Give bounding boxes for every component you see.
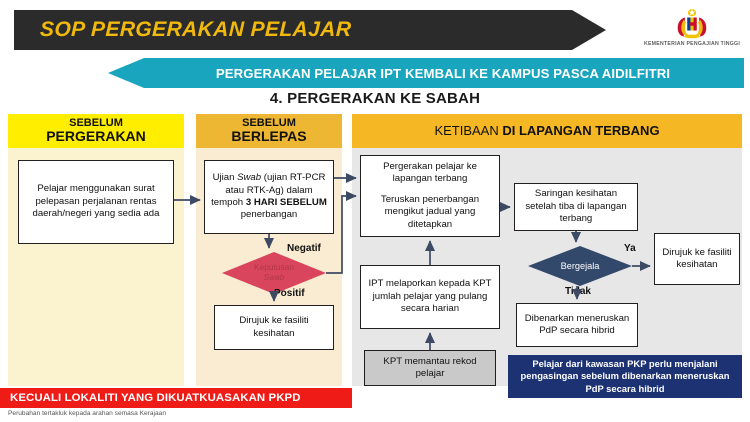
column-header-line-combined: KETIBAAN DI LAPANGAN TERBANG <box>434 124 659 138</box>
flow-box-text: Ujian Swab (ujian RT-PCR atau RTK-Ag) da… <box>209 172 329 222</box>
ujian-bold-emphasis: 3 HARI SEBELUM <box>246 197 327 208</box>
flow-box-text: Dibenarkan meneruskan PdP secara hibrid <box>521 313 633 338</box>
ministry-logo-caption: KEMENTERIAN PENGAJIAN TINGGI <box>644 41 740 47</box>
ministry-logo: KEMENTERIAN PENGAJIAN TINGGI <box>640 8 744 56</box>
ujian-swab-italic: Swab <box>237 172 261 183</box>
edge-label-ya: Ya <box>624 243 636 254</box>
footer-red-bar: KECUALI LOKALITI YANG DIKUATKUASAKAN PKP… <box>0 388 352 408</box>
decision-label: KeputusanSwab <box>254 263 294 282</box>
column-header-sebelum-berlepas: SEBELUM BERLEPAS <box>196 114 342 148</box>
section-subtitle: 4. PERGERAKAN KE SABAH <box>0 90 750 107</box>
flow-box-ipt-melaporkan[interactable]: IPT melaporkan kepada KPT jumlah pelajar… <box>360 265 500 329</box>
malaysia-coat-of-arms-icon <box>673 8 711 40</box>
header-banner: PERGERAKAN PELAJAR IPT KEMBALI KE KAMPUS… <box>108 58 744 88</box>
column-header-line2: PERGERAKAN <box>46 129 146 144</box>
flow-box-text-line2: Teruskan penerbangan mengikut jadual yan… <box>365 194 495 231</box>
edge-label-positif: Positif <box>274 288 305 299</box>
flow-box-text: Dirujuk ke fasiliti kesihatan <box>659 247 735 272</box>
decision-line2: Swab <box>264 272 285 282</box>
column-header-line1: KETIBAAN <box>434 123 498 138</box>
page-title: SOP PERGERAKAN PELAJAR <box>14 18 352 42</box>
column-header-line2: BERLEPAS <box>231 129 306 144</box>
flow-box-surat-pelepasan[interactable]: Pelajar menggunakan surat pelepasan perj… <box>18 160 174 244</box>
column-header-ketibaan: KETIBAAN DI LAPANGAN TERBANG <box>352 114 742 148</box>
edge-label-negatif: Negatif <box>287 243 321 254</box>
flow-box-kpt-memantau[interactable]: KPT memantau rekod pelajar <box>364 350 496 386</box>
decision-label: Bergejala <box>561 261 600 272</box>
ujian-part3: penerbangan <box>241 209 298 220</box>
flow-box-text-line1: Pergerakan pelajar ke lapangan terbang <box>365 161 495 186</box>
flow-box-dirujuk-fasiliti-kesihatan-bergejala[interactable]: Dirujuk ke fasiliti kesihatan <box>654 233 740 285</box>
flow-box-pelajar-kawasan-pkp[interactable]: Pelajar dari kawasan PKP perlu menjalani… <box>508 355 742 398</box>
flow-box-text: Saringan kesihatan setelah tiba di lapan… <box>519 188 633 225</box>
edge-label-tidak: Tidak <box>565 286 591 297</box>
flow-box-dibenarkan-pdp-hibrid[interactable]: Dibenarkan meneruskan PdP secara hibrid <box>516 303 638 347</box>
flow-box-text: Dirujuk ke fasiliti kesihatan <box>219 315 329 340</box>
column-header-sebelum-pergerakan: SEBELUM PERGERAKAN <box>8 114 184 148</box>
flow-box-pergerakan-ke-lapangan-terbang[interactable]: Pergerakan pelajar ke lapangan terbang T… <box>360 155 500 237</box>
sop-title-bar: SOP PERGERAKAN PELAJAR <box>14 10 606 50</box>
footer-bar-text: KECUALI LOKALITI YANG DIKUATKUASAKAN PKP… <box>0 392 301 404</box>
flow-box-dirujuk-fasiliti-kesihatan-swab[interactable]: Dirujuk ke fasiliti kesihatan <box>214 305 334 350</box>
flow-box-text: IPT melaporkan kepada KPT jumlah pelajar… <box>365 278 495 315</box>
flow-box-text: Pelajar menggunakan surat pelepasan perj… <box>23 183 169 220</box>
flow-box-text: KPT memantau rekod pelajar <box>369 356 491 381</box>
column-header-line2: DI LAPANGAN TERBANG <box>502 123 659 138</box>
slide-canvas: SOP PERGERAKAN PELAJAR KEMENTERIAN PENGA… <box>0 0 750 422</box>
header-banner-text: PERGERAKAN PELAJAR IPT KEMBALI KE KAMPUS… <box>182 66 670 81</box>
flow-box-ujian-swab[interactable]: Ujian Swab (ujian RT-PCR atau RTK-Ag) da… <box>204 160 334 234</box>
ujian-part1: Ujian <box>213 172 238 183</box>
flow-box-text: Pelajar dari kawasan PKP perlu menjalani… <box>513 358 737 395</box>
decision-line1: Keputusan <box>254 262 294 272</box>
footer-note: Perubahan tertakluk kepada arahan semasa… <box>8 410 166 417</box>
flow-box-saringan-kesihatan[interactable]: Saringan kesihatan setelah tiba di lapan… <box>514 183 638 231</box>
